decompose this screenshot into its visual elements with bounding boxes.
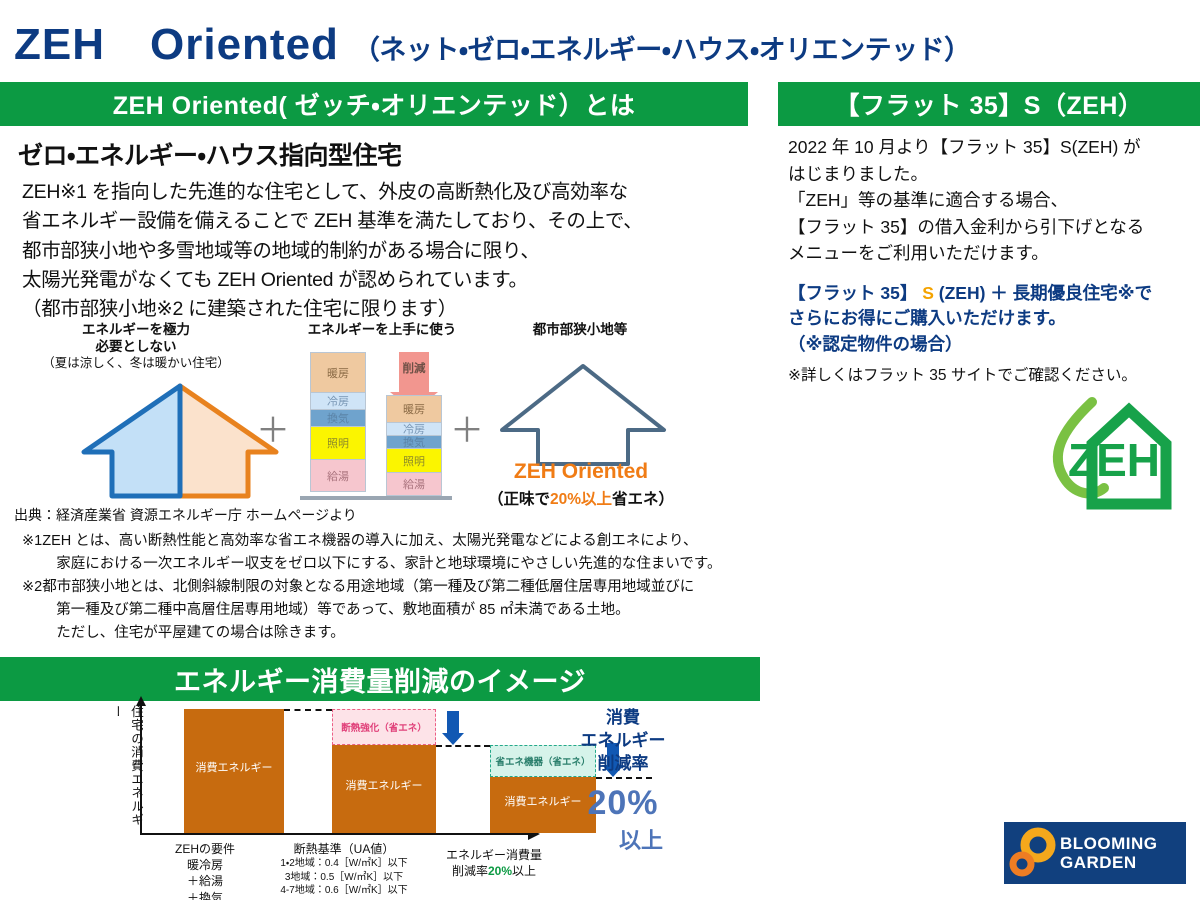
chart-bar-label: 消費エネルギー — [346, 777, 423, 793]
footnote-line: 家庭における一次エネルギー収支をゼロ以下にする、家計と地球環境にやさしい先進的な… — [42, 553, 762, 576]
xtick-line: ZEHの要件 — [150, 841, 260, 857]
page-title: ZEH Oriented （ネット・ゼロ・エネルギー・ハウス・オリエンテッド） — [14, 8, 971, 72]
footnote-marker: ※1 — [22, 530, 42, 576]
reduction-arrow-label: 削減 — [390, 360, 438, 376]
xtick-line: 削減率20%以上 — [424, 863, 564, 879]
source-citation: 出典：経済産業省 資源エネルギー庁 ホームページより — [14, 505, 357, 525]
flat35-body-line: 2022 年 10 月より【フラット 35】S(ZEH) が — [788, 134, 1200, 161]
stack-segment-lighting: 照明 — [386, 448, 442, 472]
brand-mark-icon — [1004, 822, 1060, 884]
xtick-line: 4-7地域：0.6［W/㎡K］以下 — [256, 884, 432, 898]
poster-root: ZEH Oriented （ネット・ゼロ・エネルギー・ハウス・オリエンテッド） … — [0, 0, 1200, 900]
chart-level-line-2 — [436, 745, 490, 747]
left-body-line: ZEH※1 を指向した先進的な住宅として、外皮の高断熱化及び高効率な — [22, 178, 760, 207]
callout-big-number: 20% — [548, 784, 698, 823]
flat35-body-line: 【フラット 35】の借入金利から引下げとなる — [788, 214, 1200, 241]
page-title-kana: （ネット・ゼロ・エネルギー・ハウス・オリエンテッド） — [353, 28, 971, 67]
footnote-2: ※2 都市部狭小地とは、北側斜線制限の対象となる用途地域（第一種及び第二種低層住… — [22, 576, 762, 645]
stack-segment-heating: 暖房 — [310, 352, 366, 392]
zeh-logo-text: ZEH — [1068, 434, 1160, 486]
zeh-oriented-sublabel: （正味で20%以上省エネ） — [456, 487, 706, 509]
section-header-flat35: 【フラット 35】S（ZEH） — [778, 82, 1200, 126]
stack-base-before — [300, 496, 376, 500]
stack-segment-ventilation: 換気 — [310, 409, 366, 426]
brand-wordmark: BLOOMING GARDEN — [1060, 834, 1158, 872]
plus-sign-1: ＋ — [256, 414, 290, 448]
stack-segment-hotwater: 給湯 — [310, 459, 366, 492]
callout-line: 削減率 — [548, 753, 698, 776]
flat35-highlight-line: さらにお得にご購入いただけます。 — [788, 306, 1200, 331]
footnote-line: ZEH とは、高い断熱性能と高効率な省エネ機器の導入に加え、太陽光発電などによる… — [42, 530, 762, 553]
right-column: 2022 年 10 月より【フラット 35】S(ZEH) が はじまりました。 … — [778, 134, 1200, 385]
chart-y-axis — [140, 705, 142, 835]
chart-xtick-3: エネルギー消費量 削減率20%以上 — [424, 847, 564, 879]
split-house-icon — [80, 380, 280, 502]
zeh-logo: ZEH — [1046, 392, 1176, 514]
section-header-zeh-oriented: ZEH Oriented( ゼッチ・オリエンテッド）とは — [0, 82, 748, 126]
stack-segment-hotwater: 給湯 — [386, 472, 442, 496]
caption-line: 必要としない — [38, 339, 234, 356]
highlight-post: (ZEH) ＋ 長期優良住宅※で — [934, 283, 1152, 303]
energy-stack-after: 暖房 冷房 換気 照明 給湯 — [386, 395, 442, 496]
xtick-line: 暖冷房 — [150, 857, 260, 873]
left-column: ゼロ・エネルギー・ハウス指向型住宅 ZEH※1 を指向した先進的な住宅として、外… — [0, 126, 760, 324]
diagram-caption-reduce-demand: エネルギーを極力 必要としない （夏は涼しく、冬は暖かい住宅） — [38, 322, 234, 371]
footnote-line: 都市部狭小地とは、北側斜線制限の対象となる用途地域（第一種及び第二種低層住居専用… — [42, 576, 762, 599]
flat35-body-line: メニューをご利用いただけます。 — [788, 240, 1200, 267]
highlight-pre: 【フラット 35】 — [788, 283, 922, 303]
energy-reduction-chart: 住宅の消費エネルギー 消費エネルギー 断熱強化（省エネ） 消費エネルギー — [0, 701, 760, 900]
sub-pre: （正味で — [488, 491, 550, 508]
flat35-highlight: 【フラット 35】 S (ZEH) ＋ 長期優良住宅※で さらにお得にご購入いた… — [788, 281, 1200, 357]
sub-post: 省エネ） — [612, 491, 674, 508]
xtick-line: 1・2地域：0.4［W/㎡K］以下 — [256, 857, 432, 871]
flat35-body: 2022 年 10 月より【フラット 35】S(ZEH) が はじまりました。 … — [788, 134, 1200, 267]
highlight-s: S — [922, 283, 934, 303]
brand-line-2: GARDEN — [1060, 853, 1158, 872]
chart-annotation-insulation: 断熱強化（省エネ） — [332, 709, 436, 745]
left-body-line: 太陽光発電がなくても ZEH Oriented が認められています。 — [22, 266, 760, 295]
left-body-line: 都市部狭小地や多雪地域等の地域的制約がある場合に限り、 — [22, 237, 760, 266]
callout-line: 消費 — [548, 707, 698, 730]
stack-segment-ventilation: 換気 — [386, 435, 442, 448]
page-title-english: ZEH Oriented — [14, 8, 339, 72]
callout-line: エネルギー — [548, 730, 698, 753]
footnote-text: 都市部狭小地とは、北側斜線制限の対象となる用途地域（第一種及び第二種低層住居専用… — [42, 576, 762, 645]
chart-plot-area: 消費エネルギー 断熱強化（省エネ） 消費エネルギー 省エネ機器（省エネ） 消費エ… — [140, 705, 530, 835]
xtick-line: ＋給湯 — [150, 873, 260, 889]
flat35-highlight-line: （※認定物件の場合） — [788, 332, 1200, 357]
caption-line: エネルギーを極力 — [38, 322, 234, 339]
left-body-line: 省エネルギー設備を備えることで ZEH 基準を満たしており、その上で、 — [22, 207, 760, 236]
footnote-line: ただし、住宅が平屋建ての場合は除きます。 — [42, 622, 762, 645]
zeh-oriented-label: ZEH Oriented — [466, 460, 696, 484]
footnotes: ※1 ZEH とは、高い断熱性能と高効率な省エネ機器の導入に加え、太陽光発電など… — [22, 530, 762, 645]
diagram-caption-use-smart: エネルギーを上手に使う — [284, 322, 480, 339]
footnote-1: ※1 ZEH とは、高い断熱性能と高効率な省エネ機器の導入に加え、太陽光発電など… — [22, 530, 762, 576]
chart-bar-2: 消費エネルギー — [332, 745, 436, 833]
chart-xtick-1: ZEHの要件 暖冷房 ＋給湯 ＋換気 ＋照明 — [150, 841, 260, 900]
footnote-line: 第一種及び第二種中高層住居専用地域）等であって、敷地面積が 85 ㎡未満である土… — [42, 599, 762, 622]
xtick-line: 断熱基準（UA値） — [256, 841, 432, 857]
brand-logo: BLOOMING GARDEN — [1004, 822, 1186, 884]
caption-sub: （夏は涼しく、冬は暖かい住宅） — [38, 356, 234, 372]
chart-x-axis — [140, 833, 530, 835]
footnote-marker: ※2 — [22, 576, 42, 645]
stack-segment-heating: 暖房 — [386, 395, 442, 422]
flat35-body-line: はじまりました。 — [788, 161, 1200, 188]
chart-bar-label: 消費エネルギー — [196, 759, 273, 775]
left-body-line: （都市部狭小地※2 に建築された住宅に限ります） — [22, 295, 760, 324]
stack-segment-lighting: 照明 — [310, 426, 366, 459]
energy-stack-before: 暖房 冷房 換気 照明 給湯 — [310, 352, 366, 492]
flat35-footnote: ※詳しくはフラット 35 サイトでご確認ください。 — [788, 363, 1200, 385]
xtick-line: エネルギー消費量 — [424, 847, 564, 863]
diagram-caption-urban-small-lot: 都市部狭小地等 — [480, 322, 680, 339]
left-body: ZEH※1 を指向した先進的な住宅として、外皮の高断熱化及び高効率な 省エネルギ… — [22, 178, 760, 324]
chart-level-line-1 — [284, 709, 332, 711]
stack-base-after — [376, 496, 452, 500]
brand-line-1: BLOOMING — [1060, 834, 1158, 853]
outline-house-icon — [496, 360, 670, 472]
flat35-body-line: 「ZEH」等の基準に適合する場合、 — [788, 187, 1200, 214]
xtick-line: ＋換気 — [150, 890, 260, 900]
flat35-highlight-line: 【フラット 35】 S (ZEH) ＋ 長期優良住宅※で — [788, 281, 1200, 306]
sub-percent: 20%以上 — [550, 491, 612, 508]
stack-segment-cooling: 冷房 — [310, 392, 366, 409]
footnote-text: ZEH とは、高い断熱性能と高効率な省エネ機器の導入に加え、太陽光発電などによる… — [42, 530, 762, 576]
section-header-energy-chart: エネルギー消費量削減のイメージ — [0, 657, 760, 701]
plus-sign-2: ＋ — [450, 414, 484, 448]
chart-bar-1: 消費エネルギー — [184, 709, 284, 833]
chart-callout-reduction-rate: 消費 エネルギー 削減率 20% 以上 — [548, 707, 698, 855]
left-subheading: ゼロ・エネルギー・ハウス指向型住宅 — [18, 136, 760, 172]
chart-down-arrow-1 — [442, 711, 464, 745]
chart-xtick-2: 断熱基準（UA値） 1・2地域：0.4［W/㎡K］以下 3地域：0.5［W/㎡K… — [256, 841, 432, 898]
callout-suffix: 以上 — [584, 823, 698, 855]
xtick-line: 3地域：0.5［W/㎡K］以下 — [256, 871, 432, 885]
